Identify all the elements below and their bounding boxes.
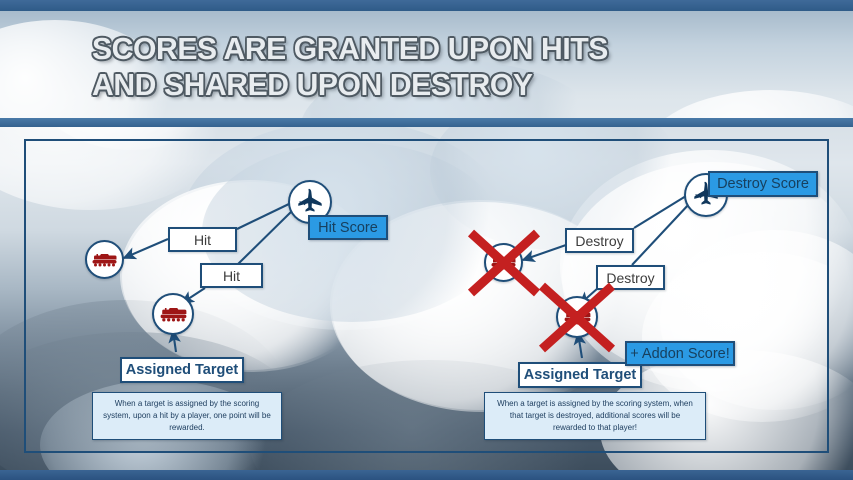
- right-destroy-score-label: Destroy Score: [717, 176, 809, 192]
- addon-score-badge[interactable]: + Addon Score!: [625, 341, 735, 366]
- left-hit-label-top[interactable]: Hit: [168, 227, 237, 252]
- tank-icon: [159, 305, 188, 324]
- left-hit-label-top-text: Hit: [194, 232, 211, 248]
- header-bottom-accent-band: [0, 118, 853, 127]
- right-destroy-score-badge[interactable]: Destroy Score: [708, 171, 818, 197]
- left-target-node-a[interactable]: [85, 240, 124, 279]
- page-title: SCORES ARE GRANTED UPON HITS AND SHARED …: [92, 31, 771, 104]
- right-assigned-target-label[interactable]: Assigned Target: [518, 362, 642, 388]
- right-assigned-target-text: Assigned Target: [524, 367, 637, 383]
- right-destroy-label-bottom-text: Destroy: [606, 270, 654, 286]
- fighter-jet-icon: [295, 187, 325, 217]
- top-accent-band: [0, 0, 853, 11]
- left-hit-score-badge[interactable]: Hit Score: [308, 215, 388, 240]
- left-caption-box: When a target is assigned by the scoring…: [92, 392, 282, 440]
- left-caption-text: When a target is assigned by the scoring…: [101, 398, 273, 434]
- tank-icon: [490, 254, 517, 272]
- right-target-node-c-destroyed[interactable]: [484, 243, 523, 282]
- left-assigned-target-text: Assigned Target: [126, 362, 239, 378]
- left-target-node-b-assigned[interactable]: [152, 293, 194, 335]
- right-destroy-label-top-text: Destroy: [575, 233, 623, 249]
- right-target-node-d-assigned-destroyed[interactable]: [556, 296, 598, 338]
- bottom-accent-band: [0, 470, 853, 480]
- tank-icon: [91, 251, 118, 269]
- right-caption-box: When a target is assigned by the scoring…: [484, 392, 706, 440]
- left-assigned-target-label[interactable]: Assigned Target: [120, 357, 244, 383]
- slide-root: SCORES ARE GRANTED UPON HITS AND SHARED …: [0, 0, 853, 480]
- left-hit-label-bottom[interactable]: Hit: [200, 263, 263, 288]
- tank-icon: [563, 308, 592, 327]
- right-caption-text: When a target is assigned by the scoring…: [493, 398, 697, 434]
- left-hit-score-label: Hit Score: [318, 220, 378, 236]
- left-hit-label-bottom-text: Hit: [223, 268, 240, 284]
- header-banner: SCORES ARE GRANTED UPON HITS AND SHARED …: [0, 11, 853, 118]
- right-destroy-label-top[interactable]: Destroy: [565, 228, 634, 253]
- right-destroy-label-bottom[interactable]: Destroy: [596, 265, 665, 290]
- addon-score-label: + Addon Score!: [630, 346, 730, 362]
